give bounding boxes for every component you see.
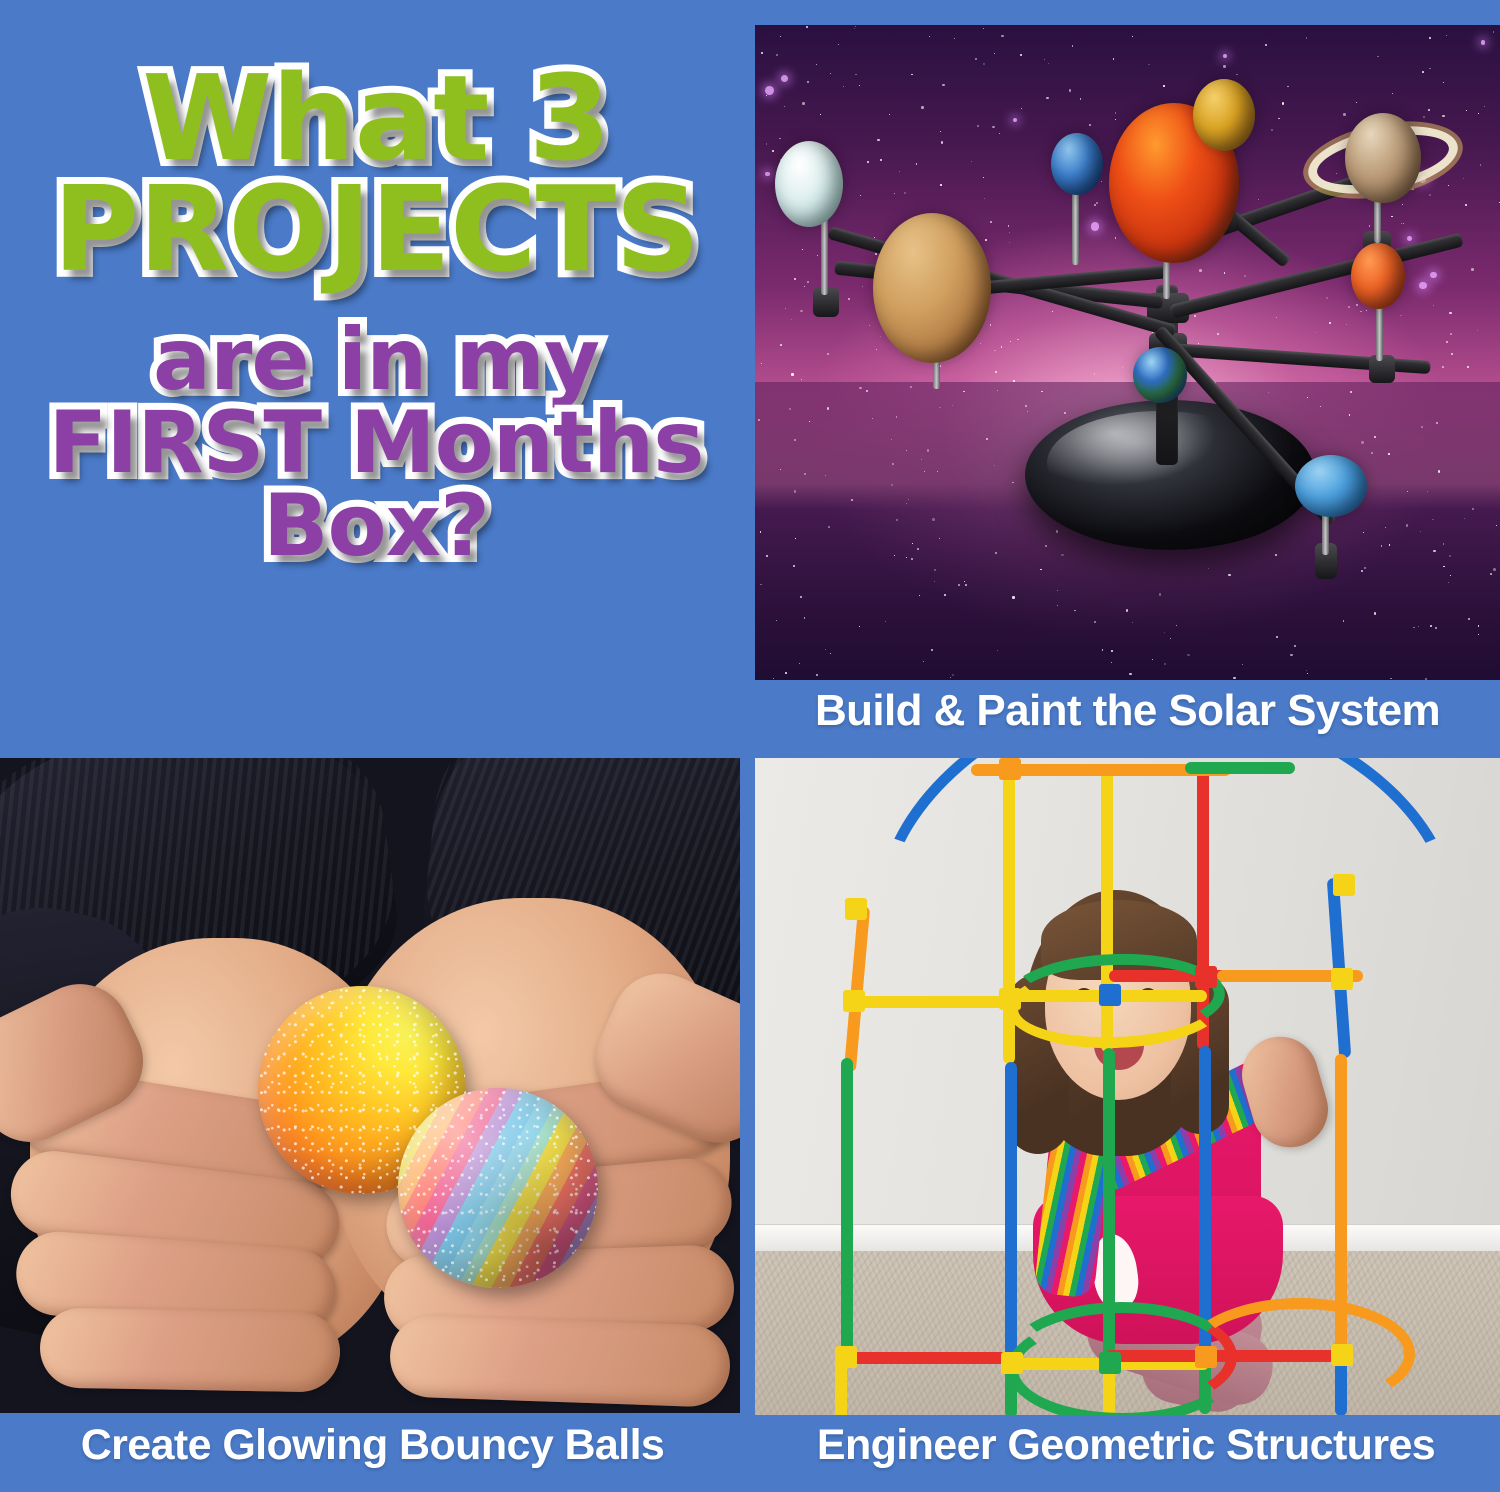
title-panel: What 3 PROJECTS are in my FIRST Months B… (0, 0, 752, 756)
title-line-4: FIRST Months (49, 404, 704, 483)
connector-4 (999, 758, 1021, 780)
connector-2 (845, 898, 867, 920)
stick-h-low-1 (839, 1352, 1017, 1364)
planet-mars (873, 213, 991, 363)
planet-venus (1193, 79, 1255, 151)
stick-v-2 (841, 1058, 853, 1358)
caption-solar-system: Build & Paint the Solar System (755, 686, 1500, 736)
stick-h-top-2 (1185, 762, 1295, 774)
connector-5 (1099, 984, 1121, 1006)
product-collage: What 3 PROJECTS are in my FIRST Months B… (0, 0, 1500, 1492)
planet-uranus (775, 141, 843, 227)
title-line-2: PROJECTS (53, 175, 699, 284)
bouncy-balls-photo (0, 758, 740, 1413)
connector-11 (1099, 1352, 1121, 1374)
connector-12 (1195, 1346, 1217, 1368)
connector-9 (835, 1346, 857, 1368)
finger-right-4 (389, 1314, 732, 1408)
planet-model (755, 25, 1500, 680)
connector-13 (1331, 1344, 1353, 1366)
planet-neptune (1295, 455, 1367, 517)
title-line-5: Box? (263, 487, 489, 566)
planet-mercury (1351, 243, 1405, 309)
ring-bottom-right (1185, 1298, 1415, 1410)
connector-1 (843, 990, 865, 1012)
stick-h-mid-1 (843, 996, 1019, 1008)
connector-10 (1001, 1352, 1023, 1374)
connector-8 (1331, 968, 1353, 990)
planet-earth-blue (1051, 133, 1103, 195)
connector-3 (999, 988, 1021, 1010)
stick-v-11 (1199, 1046, 1211, 1356)
connector-7 (1333, 874, 1355, 896)
title-line-1: What 3 (142, 64, 609, 173)
caption-geometric-structures: Engineer Geometric Structures (752, 1421, 1500, 1470)
geometric-structures-photo (755, 758, 1500, 1415)
ball-shading-rainbow (398, 1088, 598, 1288)
connector-6 (1195, 966, 1217, 988)
caption-bouncy-balls: Create Glowing Bouncy Balls (0, 1421, 745, 1470)
planet-earth (1133, 347, 1187, 403)
planet-saturn (1345, 113, 1421, 203)
bouncy-ball-rainbow (398, 1088, 598, 1288)
finger-left-4 (39, 1307, 340, 1392)
stick-v-5 (1005, 1062, 1017, 1362)
title-line-3: are in my (153, 321, 599, 400)
solar-system-photo (755, 25, 1500, 680)
